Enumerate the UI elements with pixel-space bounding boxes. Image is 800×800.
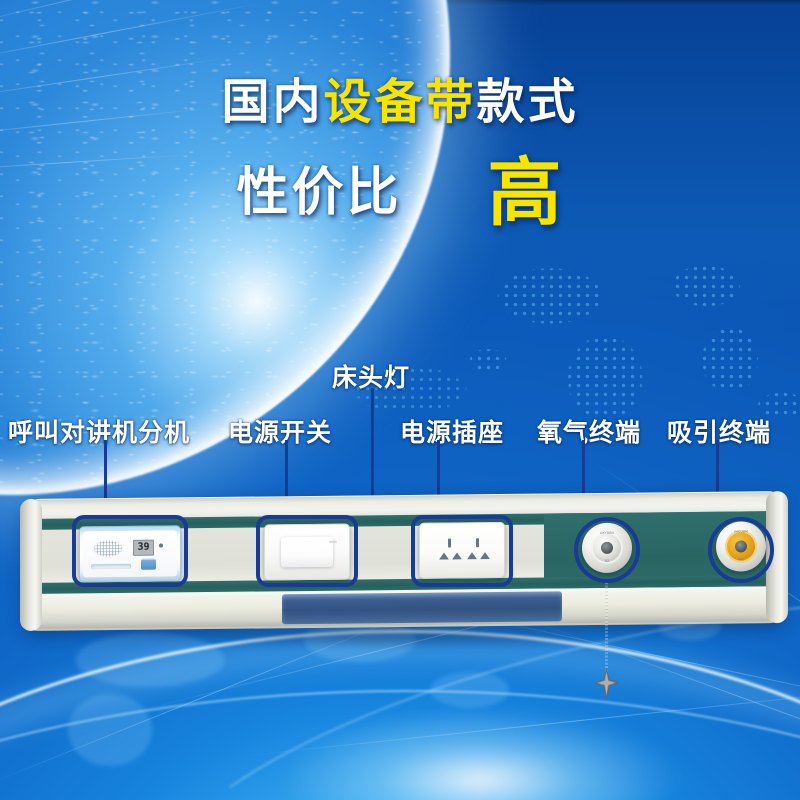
light-ray-5 (0, 108, 209, 137)
device-panel-wrapper: 39 (24, 495, 784, 635)
light-ray-4 (0, 56, 237, 101)
highlight-box-power-switch (256, 515, 358, 587)
light-ray-6 (0, 154, 190, 171)
highlight-box-power-outlet (411, 515, 513, 587)
light-rays (0, 0, 500, 380)
promo-banner: 国内设备带款式 性价比 高 呼叫对讲机分机电源开关床头灯电源插座氧气终端吸引终端… (0, 0, 800, 800)
callout-label-4: 氧气终端 (537, 413, 641, 449)
bed-light-strip[interactable] (282, 591, 562, 624)
pull-cord-ornament-icon[interactable] (594, 669, 619, 699)
callout-label-1: 电源开关 (228, 413, 332, 449)
panel-end-cap-left (20, 499, 42, 631)
highlight-circle-suction (708, 517, 774, 583)
light-ray-1 (0, 0, 258, 1)
callout-label-0: 呼叫对讲机分机 (8, 413, 190, 449)
callout-label-3: 电源插座 (400, 413, 504, 449)
oxygen-pull-cord[interactable] (605, 581, 608, 673)
highlight-box-intercom (72, 515, 188, 587)
highlight-circle-oxygen (574, 517, 640, 583)
light-ray-3 (0, 2, 264, 65)
callout-label-5: 吸引终端 (667, 413, 771, 449)
